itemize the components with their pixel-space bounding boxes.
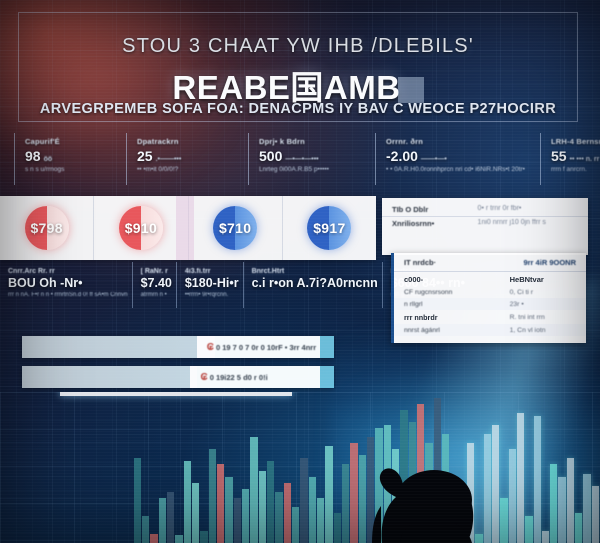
kpi-value: 55•• ••• n. rr [551,148,600,164]
bar [159,498,166,543]
stat-value: $7.40 [141,276,172,290]
progress-bar-list: ₢0 19 7 0 7 0r 0 10rF • 3rr 4nrr ₢0 19i2… [22,336,334,396]
kpi-value-number: 98 [25,148,41,164]
detail-panel-row[interactable]: TIb O Dblr 0• r trnr 0r fbr• [382,203,588,216]
pie-chart-label: $710 [219,220,251,236]
pie-chart-card[interactable]: $798 [0,196,94,260]
kpi-sub: • • 0A.R.H0.0ronnhprcn nri cd• i6NiR.NRs… [386,166,534,173]
kpi-card[interactable]: LRH-4 Bernsnfla.ackrn 55•• ••• n. rr rrr… [540,133,600,185]
bar [342,464,349,543]
table-header-row: c000- HeBNtvar [394,272,586,286]
kpi-card[interactable]: Capurif'É 98öö s n s u/rrnogs [14,133,126,185]
bar [167,492,174,543]
data-table-card: IT nrdcb· 9rr 4iR 9OONR c000- HeBNtvar C… [391,253,586,343]
currency-icon: ₢ [207,342,214,353]
kpi-value-dots: —•—•—••• [285,156,318,163]
kpi-value-number: 500 [259,148,282,164]
table-row[interactable]: CF rugcnsrsonn 0, Ci ti r [394,286,586,298]
bar [292,507,299,543]
pie-chart-label: $798 [30,220,62,236]
bar [175,535,182,543]
stat-sub: rrr n nA. F•r n n • rrnrtnSn.d 0! ff sA•… [8,292,128,298]
table-cell-value: 23r • [500,298,586,310]
kpi-value-dots: ——•—• [421,156,447,163]
kpi-caption: Dpatrackrn [137,137,242,146]
data-table-title: IT nrdcb· [404,258,436,267]
data-table-header: IT nrdcb· 9rr 4iR 9OONR [394,253,586,272]
stat-card[interactable]: 4i3.fi.trr $180-Hi•r ••rrrn• 9r•rqrcnn. [176,262,243,308]
progress-bar-row[interactable]: ₢0 19i22 5 d0 r 0!i [22,366,334,388]
kpi-caption: Orrnr. ðrn [386,137,534,146]
detail-panel-row[interactable]: Xnriliosrnn• 1ni0 nrnrr j10 0jn ffrr s [382,216,588,230]
progress-bar-fill [22,336,215,358]
kpi-card[interactable]: Dprj• k Bdrn 500—•—•—••• Lnrteg 0i00A.R.… [248,133,375,185]
bar [150,534,157,543]
table-cell-name: CF rugcnsrsonn [394,286,500,298]
bar [200,531,207,543]
stat-value: BOU Oh -Nr• [8,276,128,290]
table-cell-value: R. tni int rrn [500,310,586,324]
kpi-caption: Capurif'É [25,137,120,146]
progress-bar-text: ₢0 19 7 0 7 0r 0 10rF • 3rr 4nrr [207,342,316,353]
bar [250,437,257,543]
stat-caption: Cnrr.Arc Rr. rr [8,268,128,275]
progress-bar-value: 0 19i22 5 d0 r 0!i [210,373,268,382]
currency-icon: ₢ [200,372,207,383]
kpi-sub: •• •m•it 0/0/0!? [137,166,242,173]
bar [359,455,366,543]
bar [334,513,341,543]
bar [350,443,357,543]
detail-panel: TIb O Dblr 0• r trnr 0r fbr• Xnriliosrnn… [382,198,588,255]
title-smear [398,77,424,103]
kpi-value-dots: •• ••• n. rr [570,156,600,163]
detail-panel-key: TIb O Dblr [392,205,478,214]
bar [300,458,307,543]
progress-bar-value: 0 19 7 0 7 0r 0 10rF • 3rr 4nrr [216,343,316,352]
stat-value: $180-Hi•r [185,276,239,290]
progress-bar-text: ₢0 19i22 5 d0 r 0!i [200,372,267,383]
pie-band-tint [176,196,194,260]
stat-row: Cnrr.Arc Rr. rr BOU Oh -Nr• rrr n nA. F•… [0,262,376,308]
table-col-header: HeBNtvar [500,272,586,286]
kpi-value-number: 55 [551,148,567,164]
kpi-card[interactable]: Dpatrackrn 25.•——••• •• •m•it 0/0/0!? [126,133,248,185]
table-cell-name: rrr nnbrdr [394,310,500,324]
stat-caption: Bnrct.Htrt [252,268,378,275]
table-cell-value: 1, Cn vl iotn [500,324,586,336]
bar [192,483,199,543]
table-row[interactable]: n rllgrl 23r • [394,298,586,310]
kpi-strip: Capurif'É 98öö s n s u/rrnogs Dpatrackrn… [14,133,586,185]
kpi-value: 25.•——••• [137,148,242,164]
bar [234,498,241,543]
data-table: c000- HeBNtvar CF rugcnsrsonn 0, Ci ti r… [394,272,586,336]
bar [325,446,332,543]
bar [225,477,232,543]
kpi-value: 500—•—•—••• [259,148,369,164]
stat-sub: ••rrrn• 9r•rqrcnn. [185,292,239,298]
bar [267,461,274,543]
pie-chart-card[interactable]: $710 [189,196,283,260]
kpi-sub: Lnrteg 0i00A.R.B5 p••••• [259,166,369,173]
detail-panel-value: 0• r trnr 0r fbr• [478,205,578,214]
header-subtitle: STOU 3 CHAAT YW IHB /DLEBILS' [19,35,577,58]
stat-card[interactable]: Bnrct.Htrt c.i r•on A.7i?A0rncnn [243,262,382,308]
kpi-sub: rrrn f anrcrn. [551,166,600,173]
stat-caption: 4i3.fi.trr [185,268,239,275]
dashboard-screenshot: STOU 3 CHAAT YW IHB /DLEBILS' REABE国AMB … [0,0,600,543]
pie-chart-label: $917 [313,220,345,236]
bar [275,492,282,543]
progress-bar-row[interactable]: ₢0 19 7 0 7 0r 0 10rF • 3rr 4nrr [22,336,334,358]
pie-chart-card[interactable]: $910 [94,196,188,260]
stat-value: c.i r•on A.7i?A0rncnn [252,276,378,290]
kpi-value-dots: öö [44,156,53,163]
bar [309,477,316,543]
table-cell-value: 0, Ci ti r [500,286,586,298]
table-row[interactable]: nnrst ágánrl 1, Cn vl iotn [394,324,586,336]
kpi-card[interactable]: Orrnr. ðrn -2.00——•—• • • 0A.R.H0.0ronnh… [375,133,540,185]
kpi-caption: LRH-4 Bernsnfla.ackrn [551,137,600,146]
stat-sub: atrmrn n • [141,292,172,298]
kpi-sub: s n s u/rrnogs [25,166,120,173]
bar [134,458,141,543]
bar [242,489,249,543]
pie-chart-label: $910 [125,220,157,236]
progress-bar-label-box: ₢0 19i22 5 d0 r 0!i [190,366,320,388]
table-row[interactable]: rrr nnbrdr R. tni int rrn [394,310,586,324]
kpi-value-dots: .•——••• [156,156,182,163]
bar [317,498,324,543]
header-caption: ARVEGRPEMEB SOFA FOA: DENACPMS IY BAV C … [19,101,577,117]
progress-bar-label-box: ₢0 19 7 0 7 0r 0 10rF • 3rr 4nrr [197,336,320,358]
bar [284,483,291,543]
bar [217,464,224,543]
kpi-caption: Dprj• k Bdrn [259,137,369,146]
progress-bar-fill [22,366,197,388]
stat-card[interactable]: [ RaNr. r $7.40 atrmrn n • [132,262,176,308]
detail-panel-value: 1ni0 nrnrr j10 0jn ffrr s [478,219,578,228]
kpi-value-number: -2.00 [386,148,418,164]
bar [209,449,216,543]
stat-caption: [ RaNr. r [141,268,172,275]
stat-card[interactable]: Cnrr.Arc Rr. rr BOU Oh -Nr• rrr n nA. F•… [0,262,132,308]
detail-panel-key: Xnriliosrnn• [392,219,478,228]
header-frame: STOU 3 CHAAT YW IHB /DLEBILS' REABE国AMB … [18,12,578,122]
bar [184,461,191,543]
data-table-meta: 9rr 4iR 9OONR [523,258,576,267]
pie-chart-card[interactable]: $917 [283,196,376,260]
kpi-value: 98öö [25,148,120,164]
table-cell-name: nnrst ágánrl [394,324,500,336]
bar [142,516,149,543]
person-silhouette [372,452,600,543]
kpi-value: -2.00——•—• [386,148,534,164]
kpi-value-number: 25 [137,148,153,164]
table-col-header: c000- [394,272,500,286]
bar [259,471,266,543]
table-cell-name: n rllgrl [394,298,500,310]
